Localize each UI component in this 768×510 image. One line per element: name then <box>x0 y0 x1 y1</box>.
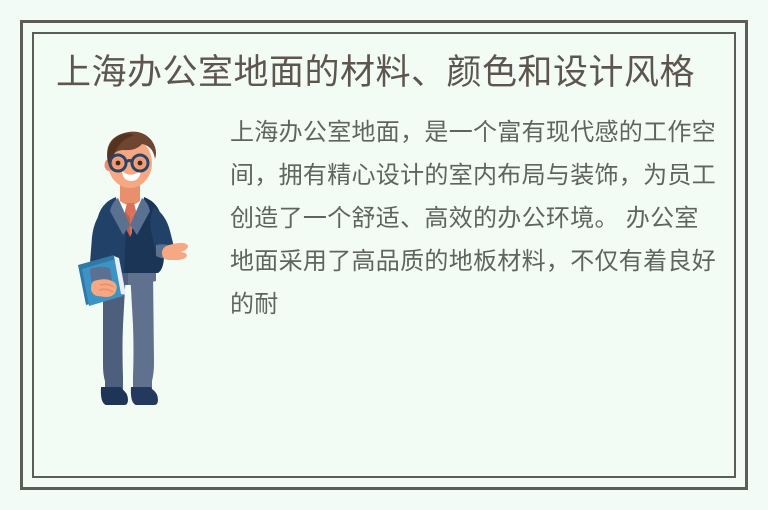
article-page: 上海办公室地面的材料、颜色和设计风格 <box>0 0 768 510</box>
inner-border-frame: 上海办公室地面的材料、颜色和设计风格 <box>32 32 736 478</box>
businessman-presenting-illustration <box>70 119 188 409</box>
page-title: 上海办公室地面的材料、颜色和设计风格 <box>52 48 716 97</box>
article-content: 上海办公室地面的材料、颜色和设计风格 <box>34 34 734 476</box>
article-body-text: 上海办公室地面，是一个富有现代感的工作空间，拥有精心设计的室内布局与装饰，为员工… <box>230 111 716 326</box>
outer-border-frame: 上海办公室地面的材料、颜色和设计风格 <box>20 20 748 490</box>
article-body-area: 上海办公室地面，是一个富有现代感的工作空间，拥有精心设计的室内布局与装饰，为员工… <box>52 111 716 326</box>
